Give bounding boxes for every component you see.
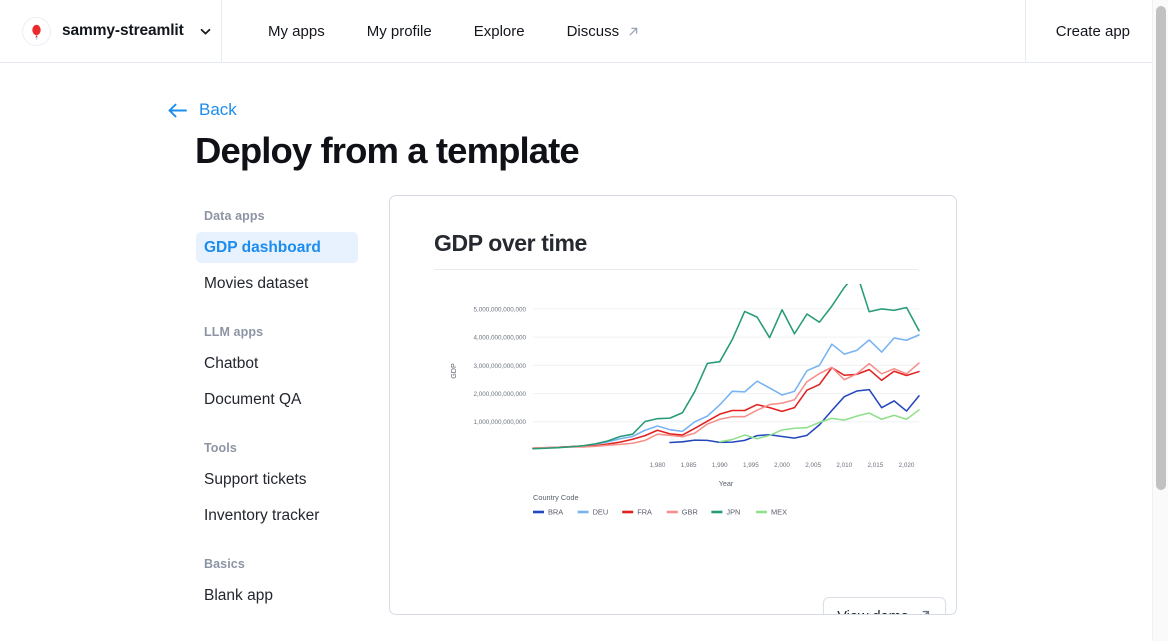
create-app-button[interactable]: Create app [1026,0,1160,62]
arrow-left-icon [167,102,188,119]
chevron-down-icon[interactable] [198,24,213,39]
template-item-chatbot[interactable]: Chatbot [196,348,358,379]
svg-text:GBR: GBR [682,508,698,517]
page-scrollbar-track[interactable] [1152,0,1168,641]
svg-text:FRA: FRA [637,508,652,517]
template-group-label-data-apps: Data apps [196,209,265,223]
template-item-label: GDP dashboard [204,239,321,257]
template-item-label: Support tickets [204,471,307,489]
card-divider [434,269,918,270]
svg-text:1,000,000,000,000: 1,000,000,000,000 [473,419,526,426]
svg-text:2,000,000,000,000: 2,000,000,000,000 [473,391,526,398]
nav-link-label: My profile [367,23,432,40]
svg-text:2,005: 2,005 [805,462,821,469]
template-group-label-llm-apps: LLM apps [196,325,263,339]
primary-nav-links: My apps My profile Explore Discuss [222,0,661,62]
view-demo-label: View demo [837,609,908,615]
nav-link-label: Explore [474,23,525,40]
svg-text:5,000,000,000,000: 5,000,000,000,000 [473,306,526,313]
nav-link-label: Discuss [567,23,620,40]
svg-text:JPN: JPN [726,508,740,517]
svg-text:2,000: 2,000 [774,462,790,469]
chart-svg: 1,000,000,000,0002,000,000,000,0003,000,… [390,284,957,584]
nav-link-my-profile[interactable]: My profile [346,0,453,62]
nav-link-my-apps[interactable]: My apps [247,0,346,62]
top-navigation-bar: sammy-streamlit My apps My profile Explo… [0,0,1160,63]
template-item-label: Blank app [204,587,273,605]
svg-text:4,000,000,000,000: 4,000,000,000,000 [473,335,526,342]
svg-text:3,000,000,000,000: 3,000,000,000,000 [473,363,526,370]
view-demo-button[interactable]: View demo [823,597,946,615]
template-item-movies-dataset[interactable]: Movies dataset [196,268,358,299]
account-switcher[interactable]: sammy-streamlit [0,0,222,62]
template-item-label: Movies dataset [204,275,308,293]
template-item-document-qa[interactable]: Document QA [196,384,358,415]
svg-text:2,010: 2,010 [836,462,852,469]
svg-text:1,985: 1,985 [681,462,697,469]
svg-text:MEX: MEX [771,508,787,517]
page-title: Deploy from a template [195,130,579,172]
svg-text:1,990: 1,990 [712,462,728,469]
nav-link-discuss[interactable]: Discuss [546,0,662,62]
svg-text:1,995: 1,995 [743,462,759,469]
template-item-label: Document QA [204,391,301,409]
create-app-container: Create app [1025,0,1160,62]
svg-text:2,020: 2,020 [899,462,915,469]
balloon-icon [22,17,51,46]
chart-title: GDP over time [434,230,587,257]
account-name: sammy-streamlit [62,22,184,40]
template-preview-card: GDP over time 1,000,000,000,0002,000,000… [389,195,957,615]
template-item-inventory-tracker[interactable]: Inventory tracker [196,500,358,531]
template-item-blank-app[interactable]: Blank app [196,580,358,611]
template-item-gdp-dashboard[interactable]: GDP dashboard [196,232,358,263]
svg-text:2,015: 2,015 [868,462,884,469]
nav-link-label: My apps [268,23,325,40]
back-link[interactable]: Back [167,100,237,120]
svg-text:Year: Year [719,479,734,488]
page-scrollbar-thumb[interactable] [1156,6,1166,490]
nav-link-explore[interactable]: Explore [453,0,546,62]
template-item-label: Chatbot [204,355,258,373]
svg-text:DEU: DEU [593,508,609,517]
external-link-icon [918,608,932,615]
svg-text:GDP: GDP [449,363,458,379]
template-group-label-basics: Basics [196,557,245,571]
back-link-label: Back [199,100,237,120]
template-item-label: Inventory tracker [204,507,319,525]
template-group-label-tools: Tools [196,441,237,455]
svg-text:1,980: 1,980 [650,462,666,469]
external-link-icon [627,25,640,38]
svg-text:Country Code: Country Code [533,493,579,502]
svg-text:BRA: BRA [548,508,563,517]
template-item-support-tickets[interactable]: Support tickets [196,464,358,495]
gdp-line-chart: 1,000,000,000,0002,000,000,000,0003,000,… [390,284,957,584]
template-list: Data apps GDP dashboard Movies dataset L… [196,203,358,611]
